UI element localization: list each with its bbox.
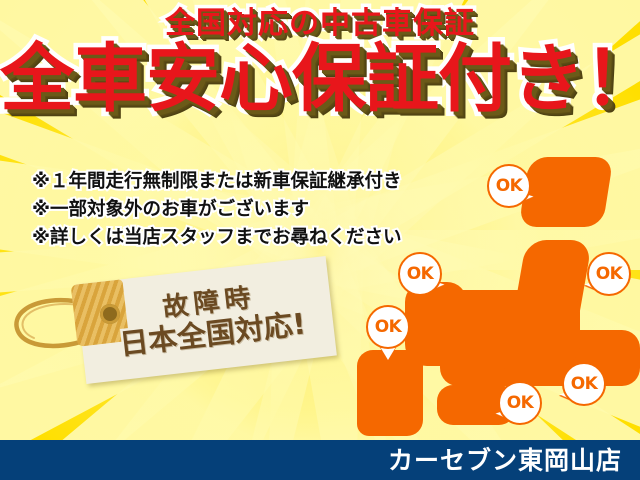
ok-badge: OK	[398, 252, 442, 296]
ok-badge: OK	[487, 164, 531, 208]
ok-badge-circle: OK	[398, 252, 442, 296]
shop-name: カーセブン東岡山店	[388, 448, 640, 473]
ok-badge-circle: OK	[487, 164, 531, 208]
ok-badge-label: OK	[507, 395, 534, 412]
note-line: ※１年間走行無制限または新車保証継承付き	[32, 168, 402, 196]
ok-badge-label: OK	[375, 319, 402, 336]
ok-badge: OK	[562, 362, 606, 406]
ok-badge-label: OK	[496, 178, 523, 195]
tag-text-group: 故障時 日本全国対応!	[81, 258, 340, 382]
footer-bar: カーセブン東岡山店	[0, 440, 640, 480]
ok-badge-label: OK	[596, 266, 623, 283]
ok-badge-label: OK	[407, 266, 434, 283]
headline-title: 全車安心保証付き！	[0, 42, 640, 116]
note-line: ※詳しくは当店スタッフまでお尋ねください	[32, 224, 402, 252]
note-line: ※一部対象外のお車がございます	[32, 196, 402, 224]
ok-badge: OK	[498, 381, 542, 425]
hanging-tag: 故障時 日本全国対応!	[8, 262, 348, 387]
seat-nose-shape	[405, 290, 451, 338]
seat-headrest-shape	[518, 157, 613, 227]
notes-list: ※１年間走行無制限または新車保証継承付き ※一部対象外のお車がございます ※詳し…	[32, 168, 402, 252]
pedal-foot-shape	[357, 392, 391, 436]
headline-group: 全国対応の中古車保証 全車安心保証付き！	[0, 6, 640, 116]
ok-badge-circle: OK	[587, 252, 631, 296]
ok-badge-circle: OK	[498, 381, 542, 425]
advertisement-banner: OKOKOKOKOKOK 全国対応の中古車保証 全車安心保証付き！ ※１年間走行…	[0, 0, 640, 480]
ok-badge-label: OK	[571, 376, 598, 393]
ok-badge-circle: OK	[562, 362, 606, 406]
ok-badge: OK	[366, 305, 410, 349]
ok-badge-circle: OK	[366, 305, 410, 349]
ok-badge: OK	[587, 252, 631, 296]
